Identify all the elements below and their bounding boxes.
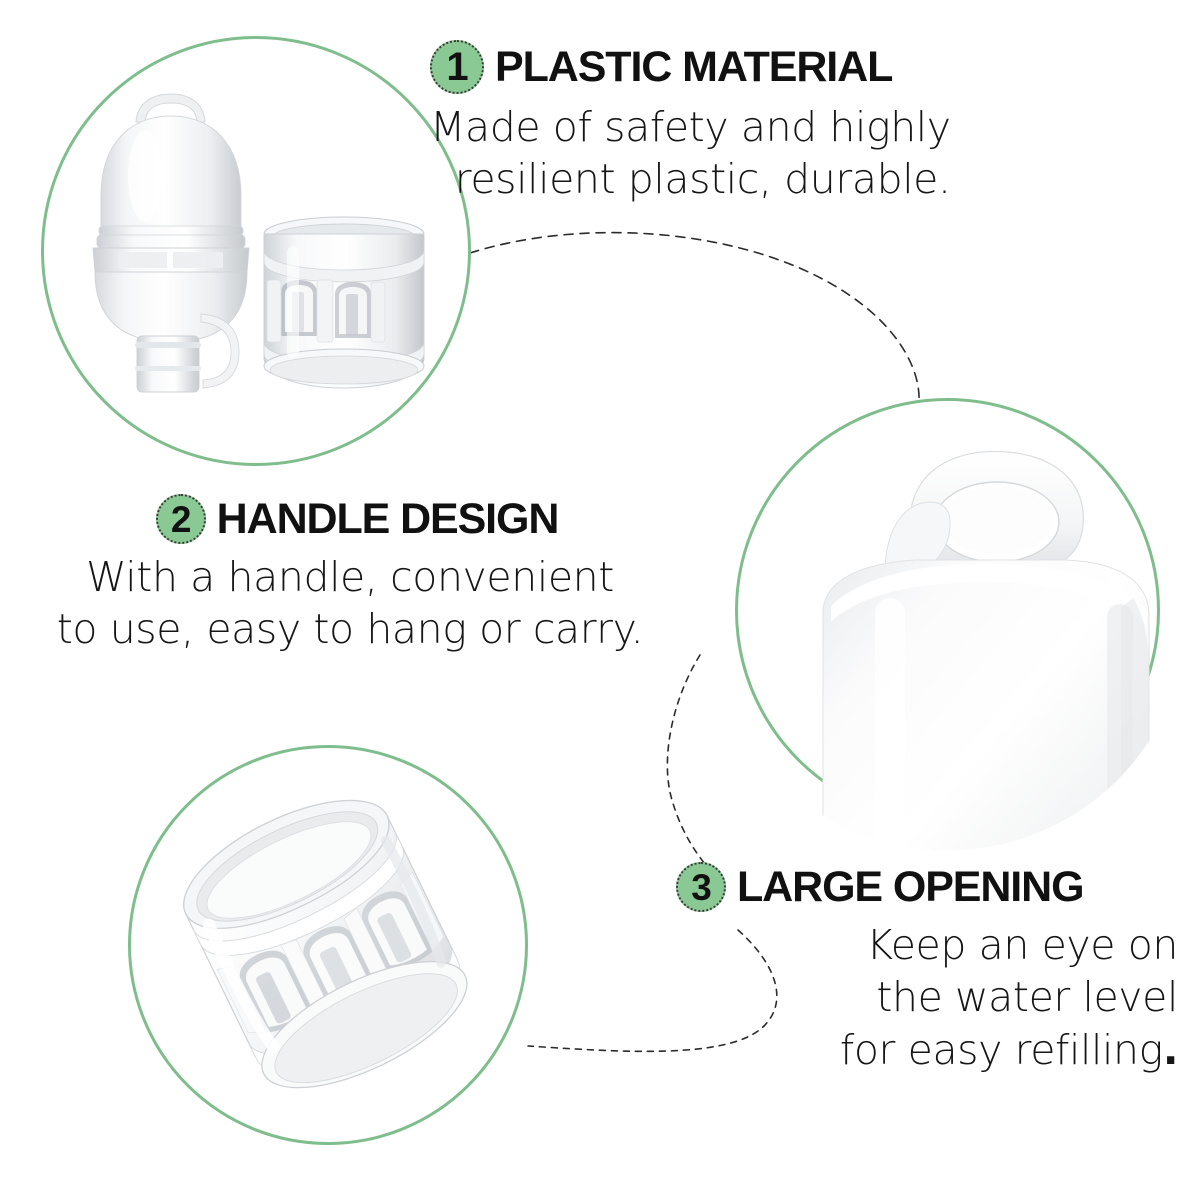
feature-1-title: PLASTIC MATERIAL bbox=[495, 46, 892, 89]
feature-3-period: . bbox=[1163, 1026, 1178, 1074]
feature-block-1: 1 PLASTIC MATERIAL Made of safety and hi… bbox=[430, 40, 955, 206]
feature-block-2: 2 HANDLE DESIGN With a handle, convenien… bbox=[20, 494, 680, 656]
feature-3-title: LARGE OPENING bbox=[737, 866, 1083, 909]
badge-number-3: 3 bbox=[676, 862, 726, 912]
feature-3-line-2: the water level bbox=[676, 971, 1178, 1023]
photo-circle-handle-design bbox=[735, 398, 1160, 823]
badge-number-1: 1 bbox=[430, 40, 484, 94]
feature-2-line-1: With a handle, convenient bbox=[20, 551, 680, 603]
feature-3-description: Keep an eye on the water level for easy … bbox=[676, 919, 1186, 1076]
feature-3-line-1: Keep an eye on bbox=[676, 919, 1178, 971]
feature-3-heading: 3 LARGE OPENING bbox=[676, 862, 1186, 912]
feature-3-line-3-text: for easy refilling bbox=[840, 1026, 1163, 1074]
product-feature-infographic: 1 PLASTIC MATERIAL Made of safety and hi… bbox=[0, 0, 1200, 1200]
connector-1-to-2 bbox=[470, 233, 919, 402]
photo-circle-plastic-material bbox=[41, 36, 471, 466]
feature-2-heading: 2 HANDLE DESIGN bbox=[20, 494, 680, 544]
feature-1-line-2: resilient plastic, durable. bbox=[430, 153, 951, 205]
feature-2-description: With a handle, convenient to use, easy t… bbox=[20, 551, 680, 656]
badge-number-2: 2 bbox=[156, 494, 206, 544]
waterer-base-opening-image bbox=[128, 745, 528, 1145]
feature-1-description: Made of safety and highly resilient plas… bbox=[430, 101, 955, 206]
connector-2-to-3 bbox=[667, 655, 722, 884]
photo-circle-large-opening bbox=[128, 745, 528, 1145]
feature-1-heading: 1 PLASTIC MATERIAL bbox=[430, 40, 955, 94]
waterer-bottle-and-base-image bbox=[41, 36, 471, 466]
feature-block-3: 3 LARGE OPENING Keep an eye on the water… bbox=[676, 862, 1186, 1076]
feature-2-line-2: to use, easy to hang or carry. bbox=[20, 603, 680, 655]
feature-2-title: HANDLE DESIGN bbox=[217, 498, 559, 541]
feature-3-line-3: for easy refilling. bbox=[676, 1024, 1178, 1076]
waterer-handle-closeup-image bbox=[735, 398, 1160, 823]
feature-1-line-1: Made of safety and highly bbox=[430, 101, 951, 153]
